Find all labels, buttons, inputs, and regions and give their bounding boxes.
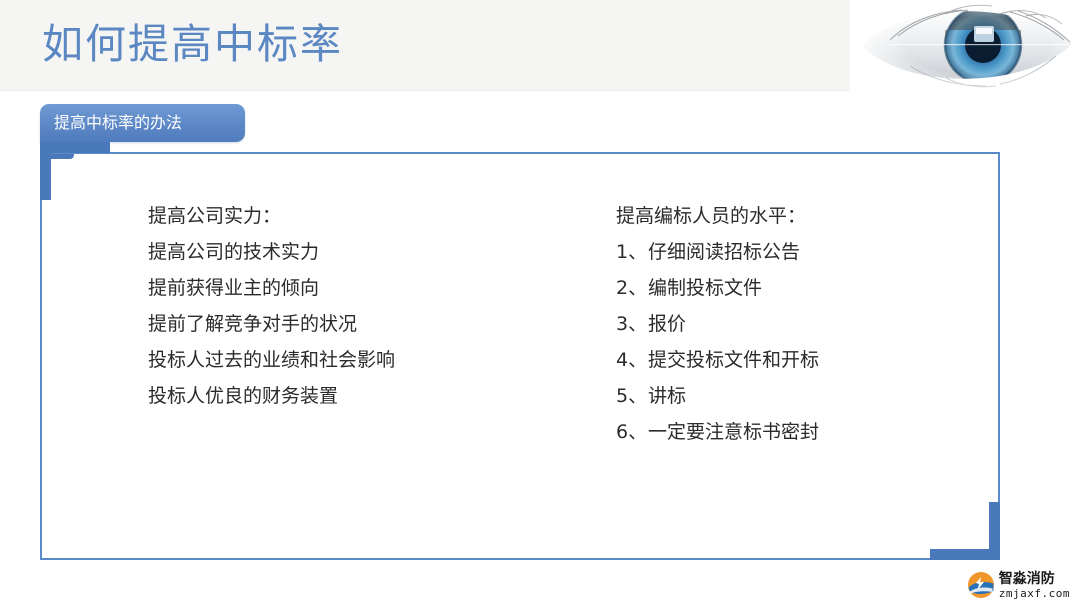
right-list-number: 2、 bbox=[616, 270, 648, 306]
left-heading: 提高公司实力： bbox=[148, 198, 395, 234]
right-list-text: 编制投标文件 bbox=[648, 277, 762, 299]
right-list-item: 3、报价 bbox=[616, 306, 819, 342]
section-tab: 提高中标率的办法 bbox=[40, 104, 245, 142]
left-line: 投标人过去的业绩和社会影响 bbox=[148, 342, 395, 378]
right-list-text: 一定要注意标书密封 bbox=[648, 421, 819, 443]
left-line: 提前获得业主的倾向 bbox=[148, 270, 395, 306]
left-line: 提高公司的技术实力 bbox=[148, 234, 395, 270]
right-list-number: 5、 bbox=[616, 378, 648, 414]
right-list-number: 1、 bbox=[616, 234, 648, 270]
left-content-column: 提高公司实力： 提高公司的技术实力 提前获得业主的倾向 提前了解竞争对手的状况 … bbox=[148, 198, 395, 414]
right-list-item: 2、编制投标文件 bbox=[616, 270, 819, 306]
right-list-item: 6、一定要注意标书密封 bbox=[616, 414, 819, 450]
left-line: 投标人优良的财务装置 bbox=[148, 378, 395, 414]
right-content-column: 提高编标人员的水平： 1、仔细阅读招标公告 2、编制投标文件 3、报价 4、提交… bbox=[616, 198, 819, 450]
right-list-item: 5、讲标 bbox=[616, 378, 819, 414]
brand-url: zmjaxf.com bbox=[999, 588, 1070, 599]
right-list-text: 仔细阅读招标公告 bbox=[648, 241, 800, 263]
right-list-item: 4、提交投标文件和开标 bbox=[616, 342, 819, 378]
right-list-number: 4、 bbox=[616, 342, 648, 378]
section-tab-label: 提高中标率的办法 bbox=[54, 104, 182, 142]
brand-logo-icon bbox=[967, 571, 995, 599]
watermark: 智淼消防 zmjaxf.com bbox=[967, 568, 1070, 602]
header-divider bbox=[0, 90, 1080, 91]
slide-canvas: 如何提高中标率 bbox=[0, 0, 1080, 608]
right-list-text: 讲标 bbox=[648, 385, 686, 407]
page-title: 如何提高中标率 bbox=[42, 14, 343, 74]
right-list-text: 提交投标文件和开标 bbox=[648, 349, 819, 371]
right-list-text: 报价 bbox=[648, 313, 686, 335]
left-line: 提前了解竞争对手的状况 bbox=[148, 306, 395, 342]
right-list-number: 3、 bbox=[616, 306, 648, 342]
right-heading: 提高编标人员的水平： bbox=[616, 198, 819, 234]
brand-text: 智淼消防 zmjaxf.com bbox=[999, 572, 1070, 599]
right-list-item: 1、仔细阅读招标公告 bbox=[616, 234, 819, 270]
right-list-number: 6、 bbox=[616, 414, 648, 450]
brand-name: 智淼消防 bbox=[999, 572, 1070, 586]
